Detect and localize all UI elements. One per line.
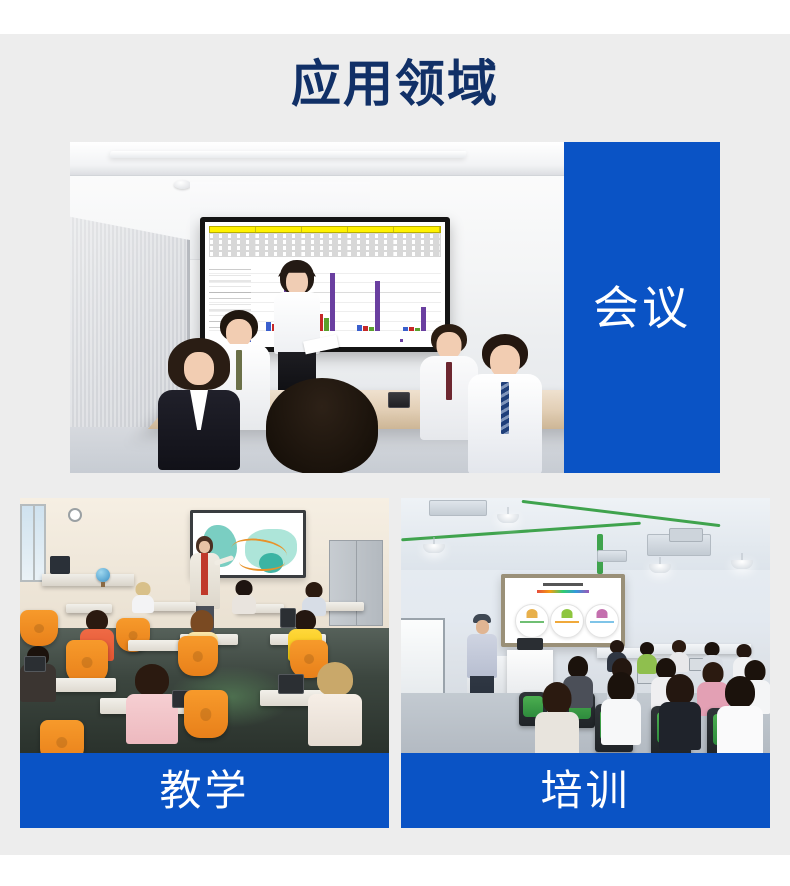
student-person (308, 662, 362, 744)
spreadsheet-table (209, 226, 441, 260)
ceiling-lamp (649, 564, 671, 573)
classroom-photo (20, 498, 389, 753)
page-root: 应用领域 (0, 0, 790, 886)
student-person (20, 646, 56, 700)
slide-accent-bar (537, 590, 589, 593)
slide-circle (515, 604, 549, 638)
foreground-attendee (266, 378, 378, 473)
student-person (126, 664, 178, 742)
page-title-wrapper: 应用领域 (0, 55, 790, 113)
smoke-detector-icon (174, 180, 191, 189)
air-duct (429, 500, 487, 516)
teacher-monitor (50, 556, 70, 574)
table-header-row (209, 226, 441, 233)
air-duct (597, 550, 627, 562)
section-label-meeting: 会议 (564, 142, 720, 473)
attendee-person (601, 672, 641, 742)
attendee-person (158, 338, 240, 468)
teacher-desk (42, 574, 134, 586)
section-meeting[interactable]: 会议 (70, 142, 720, 473)
section-teaching[interactable]: 教学 (20, 498, 389, 828)
projector (669, 528, 703, 542)
section-label-teaching: 教学 (20, 753, 389, 828)
tablet-device (24, 656, 46, 672)
slide-circle (585, 604, 619, 638)
desk-device (388, 392, 410, 408)
student-seating-area (20, 594, 389, 753)
section-label-text: 教学 (159, 768, 249, 814)
attendee-person (717, 676, 763, 753)
globe-icon (96, 568, 110, 582)
presentation-screen (501, 574, 625, 647)
presenter-person (268, 260, 326, 390)
student-chair (184, 690, 228, 738)
section-training[interactable]: 培训 (401, 498, 770, 828)
classroom-window (20, 504, 46, 582)
attendee-person (659, 674, 701, 748)
ceiling-lamp (731, 560, 753, 569)
ceiling-lamp (423, 544, 445, 553)
office-ceiling (70, 142, 564, 176)
flip-chart-whiteboard (401, 618, 445, 696)
slide-title (543, 583, 583, 586)
ceiling-lamp (497, 514, 519, 523)
map-arrow (239, 553, 285, 571)
section-row: 教学 (20, 498, 770, 828)
slide-circle (550, 604, 584, 638)
ceiling-light-bar (109, 151, 466, 158)
student-person (132, 582, 154, 612)
attendee-person (468, 334, 542, 473)
student-chair (20, 610, 58, 646)
section-label-training: 培训 (401, 753, 770, 828)
wall-clock-icon (68, 508, 82, 522)
student-chair (178, 636, 218, 676)
student-chair (40, 720, 84, 753)
section-label-text: 培训 (540, 768, 630, 814)
section-label-text: 会议 (593, 283, 691, 333)
tablet-device (278, 674, 304, 694)
audience-seating-area (511, 648, 770, 753)
attendee-person (535, 682, 579, 753)
tablet-device (280, 608, 296, 628)
training-room-photo (401, 498, 770, 753)
student-person (232, 580, 256, 612)
page-title: 应用领域 (291, 55, 499, 113)
conference-room-photo (70, 142, 564, 473)
